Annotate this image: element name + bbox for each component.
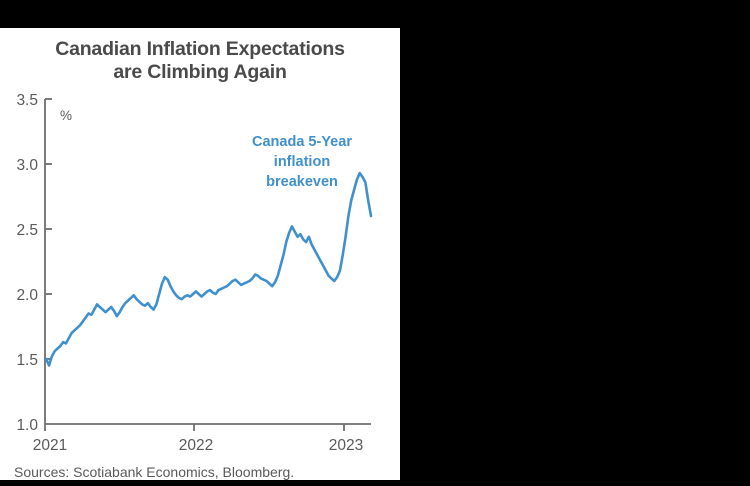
y-tick-label-1-5: 1.5 bbox=[16, 352, 38, 369]
line-chart-svg: 3.5 3.0 2.5 2.0 1.5 1.0 % 2021 2022 2023… bbox=[0, 28, 400, 480]
x-tick-label-2023: 2023 bbox=[329, 437, 363, 454]
x-tick-label-2022: 2022 bbox=[179, 437, 213, 454]
chart-panel: Canadian Inflation Expectations are Clim… bbox=[0, 28, 400, 480]
y-tick-label-1-0: 1.0 bbox=[16, 417, 38, 434]
y-tick-label-3-0: 3.0 bbox=[16, 157, 38, 174]
y-tick-label-3-5: 3.5 bbox=[16, 92, 38, 109]
y-tick-label-2-5: 2.5 bbox=[16, 222, 38, 239]
series-annotation-line2: inflation bbox=[274, 154, 330, 170]
y-axis-ticks bbox=[45, 99, 52, 359]
x-tick-label-2021: 2021 bbox=[33, 437, 67, 454]
series-annotation-line1: Canada 5-Year bbox=[252, 134, 352, 150]
series-annotation-line3: breakeven bbox=[266, 174, 338, 190]
y-axis-unit-label: % bbox=[60, 108, 72, 123]
source-note: Sources: Scotiabank Economics, Bloomberg… bbox=[14, 464, 294, 480]
y-tick-label-2-0: 2.0 bbox=[16, 287, 38, 304]
x-axis-ticks bbox=[45, 424, 344, 431]
series-line-canada-5y-breakeven bbox=[46, 173, 371, 365]
series-annotation: Canada 5-Year inflation breakeven bbox=[252, 134, 352, 190]
screenshot-root: Canadian Inflation Expectations are Clim… bbox=[0, 0, 750, 486]
